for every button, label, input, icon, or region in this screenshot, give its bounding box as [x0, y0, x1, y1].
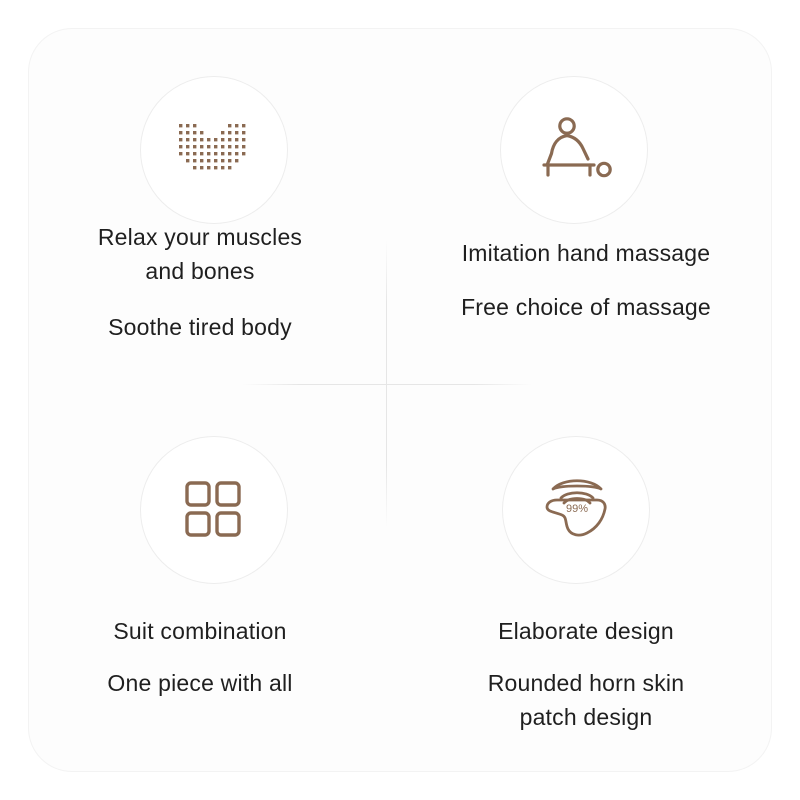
feature-suit-combination-line3: One piece with all — [14, 666, 386, 700]
feature-elaborate-design-text-a: Rounded horn skin — [400, 666, 772, 700]
feature-elaborate-design-text-b: patch design — [400, 700, 772, 734]
icon-circle-relax — [140, 76, 288, 224]
feature-elaborate-design: 99% Elaborate design Rounded horn skin p… — [400, 404, 772, 776]
massage-hand-icon — [534, 117, 614, 183]
feature-elaborate-design-line1: Elaborate design — [400, 614, 772, 648]
four-squares-icon — [183, 479, 245, 541]
icon-circle-elaborate-design: 99% — [502, 436, 650, 584]
neck-patch-99-percent-icon: 99% — [533, 471, 619, 549]
icon-circle-suit-combination — [140, 436, 288, 584]
dot-matrix-cushion-icon — [177, 122, 251, 178]
icon-circle-imitation-hand — [500, 76, 648, 224]
feature-relax: Relax your muscles and bones Soothe tire… — [14, 24, 386, 396]
feature-elaborate-design-line3: Rounded horn skin patch design — [400, 666, 772, 734]
feature-imitation-hand: Imitation hand massage Free choice of ma… — [400, 24, 772, 396]
feature-relax-line3: Soothe tired body — [14, 310, 386, 344]
feature-suit-combination-line1: Suit combination — [14, 614, 386, 648]
feature-imitation-hand-line3: Free choice of massage — [400, 290, 772, 324]
badge-99-percent: 99% — [566, 503, 588, 515]
product-feature-panel: Relax your muscles and bones Soothe tire… — [0, 0, 800, 800]
feature-relax-line1: Relax your muscles and bones — [14, 220, 386, 288]
feature-relax-text1: Relax your muscles — [14, 220, 386, 254]
feature-relax-text2: and bones — [14, 254, 386, 288]
feature-imitation-hand-line1: Imitation hand massage — [400, 236, 772, 270]
feature-suit-combination: Suit combination One piece with all — [14, 404, 386, 776]
